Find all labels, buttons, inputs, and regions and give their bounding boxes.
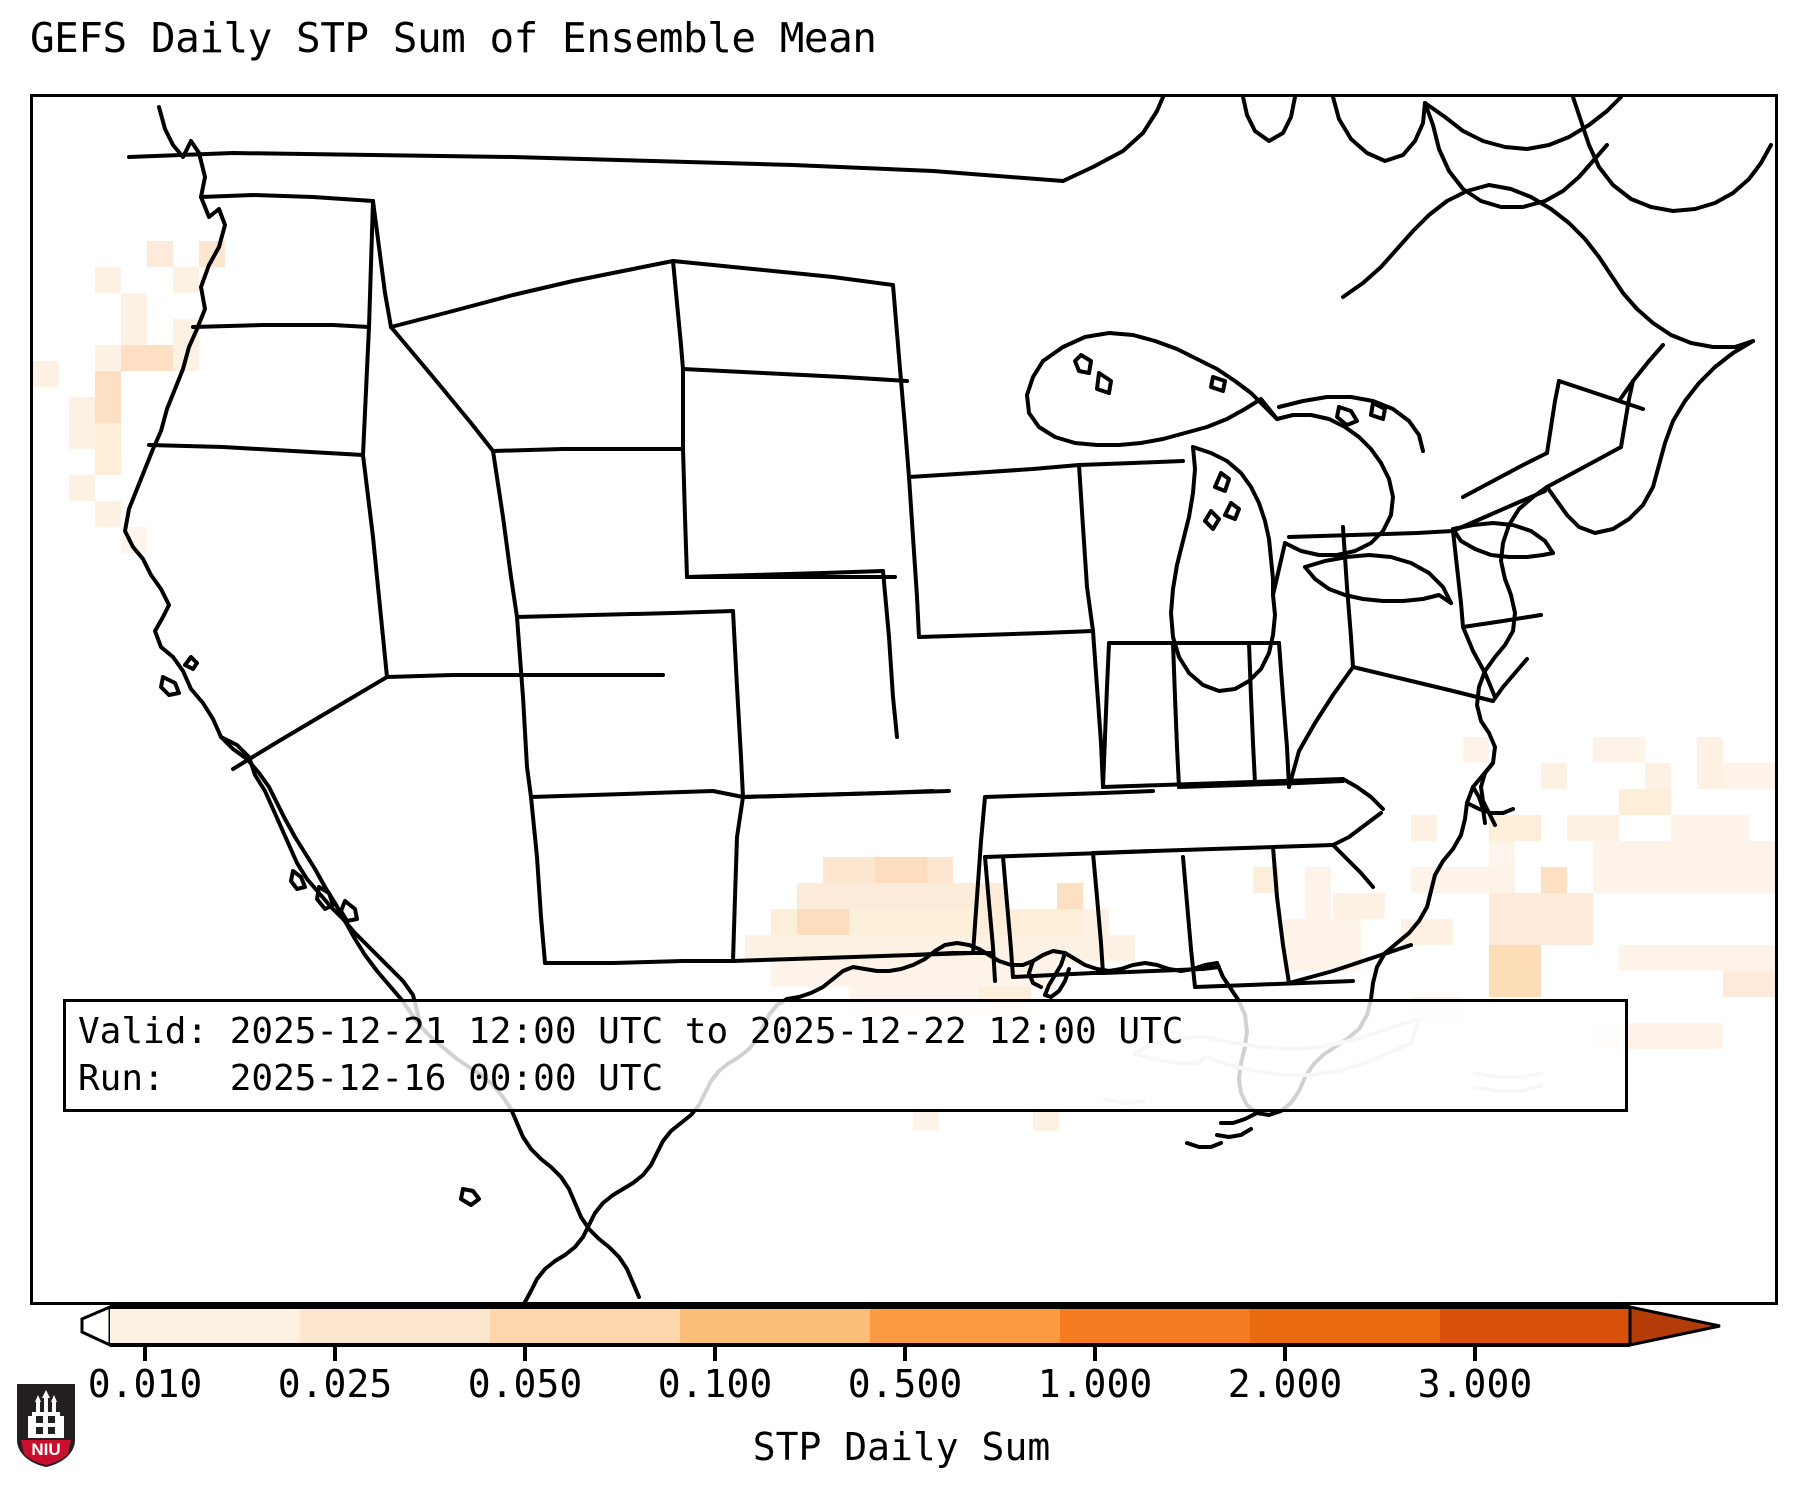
colorbar-tick-label: 2.000 <box>1228 1362 1342 1406</box>
colorbar-tick-label: 0.500 <box>848 1362 962 1406</box>
colorbar-tick-label: 0.100 <box>658 1362 772 1406</box>
colorbar-axis-label: STP Daily Sum <box>0 1425 1803 1469</box>
colorbar-tick-label: 0.010 <box>88 1362 202 1406</box>
niu-logo: NIU <box>15 1382 77 1468</box>
colorbar-gradient <box>0 1305 1803 1365</box>
forecast-info-box: Valid: 2025-12-21 12:00 UTC to 2025-12-2… <box>63 999 1628 1112</box>
grid-cell <box>1775 815 1778 841</box>
colorbar-tick-label: 1.000 <box>1038 1362 1152 1406</box>
page-title: GEFS Daily STP Sum of Ensemble Mean <box>30 14 876 62</box>
colorbar: 0.010 0.025 0.050 0.100 0.500 1.000 2.00… <box>0 1305 1803 1500</box>
map-outlines <box>33 97 1775 1302</box>
colorbar-tick-label: 0.050 <box>468 1362 582 1406</box>
conus-map-frame: Valid: 2025-12-21 12:00 UTC to 2025-12-2… <box>30 94 1778 1305</box>
colorbar-tick-label: 3.000 <box>1418 1362 1532 1406</box>
run-time-line: Run: 2025-12-16 00:00 UTC <box>78 1055 1625 1102</box>
logo-text: NIU <box>31 1440 60 1459</box>
colorbar-tick-label: 0.025 <box>278 1362 392 1406</box>
valid-time-line: Valid: 2025-12-21 12:00 UTC to 2025-12-2… <box>78 1008 1625 1055</box>
grid-cell <box>1775 997 1778 1023</box>
